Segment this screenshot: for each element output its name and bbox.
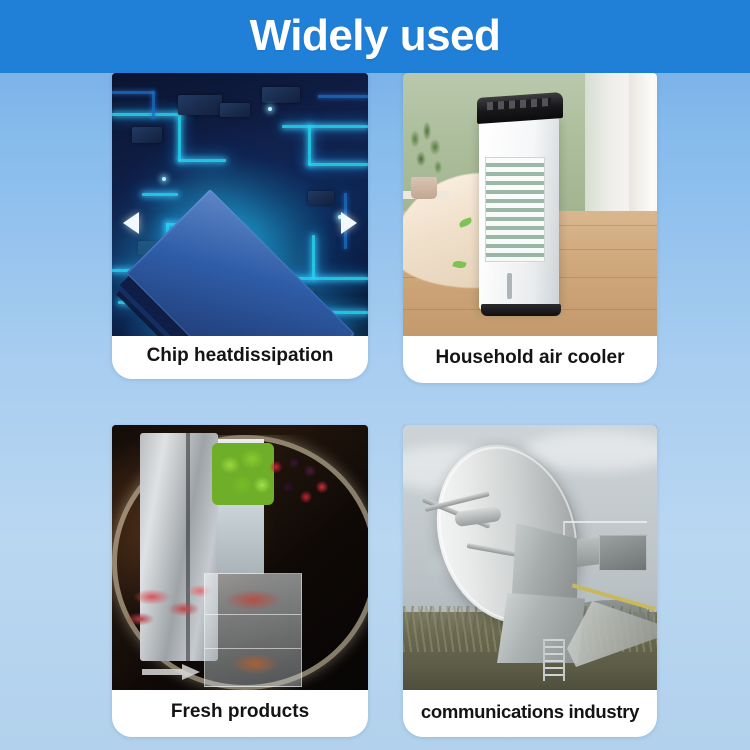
- arrow-right-icon: [142, 664, 200, 680]
- refrigerator-scene: [112, 425, 368, 690]
- arrow-left-icon: [123, 212, 139, 234]
- air-cooler-scene: [403, 73, 657, 336]
- card-household-air-cooler[interactable]: Household air cooler: [403, 73, 657, 383]
- card-label-household-air-cooler: Household air cooler: [403, 336, 657, 383]
- fresh-products-image: [112, 425, 368, 690]
- satellite-dish-scene: [403, 425, 657, 690]
- card-label-chip-heat-dissipation: Chip heatdissipation: [112, 336, 368, 379]
- chip-heat-dissipation-image: [112, 73, 368, 336]
- crisper-drawer: [204, 573, 302, 687]
- card-chip-heat-dissipation[interactable]: Chip heatdissipation: [112, 73, 368, 379]
- arrow-right-icon: [341, 212, 357, 234]
- air-cooler-unit: [477, 95, 563, 310]
- communications-industry-image: [403, 425, 657, 690]
- card-fresh-products[interactable]: Fresh products: [112, 425, 368, 737]
- berries: [264, 453, 336, 511]
- card-label-fresh-products: Fresh products: [112, 690, 368, 737]
- household-air-cooler-image: [403, 73, 657, 336]
- equipment-box: [599, 535, 647, 571]
- card-communications-industry[interactable]: communications industry: [403, 425, 657, 737]
- ladder: [543, 639, 565, 681]
- circuit-board-scene: [112, 73, 368, 336]
- use-case-grid: Chip heatdissipation: [0, 73, 750, 750]
- plant-icon: [405, 121, 447, 181]
- page-header: Widely used: [0, 0, 750, 73]
- widely-used-banner: Widely used: [0, 0, 750, 750]
- page-title: Widely used: [250, 14, 501, 58]
- card-label-communications-industry: communications industry: [403, 690, 657, 737]
